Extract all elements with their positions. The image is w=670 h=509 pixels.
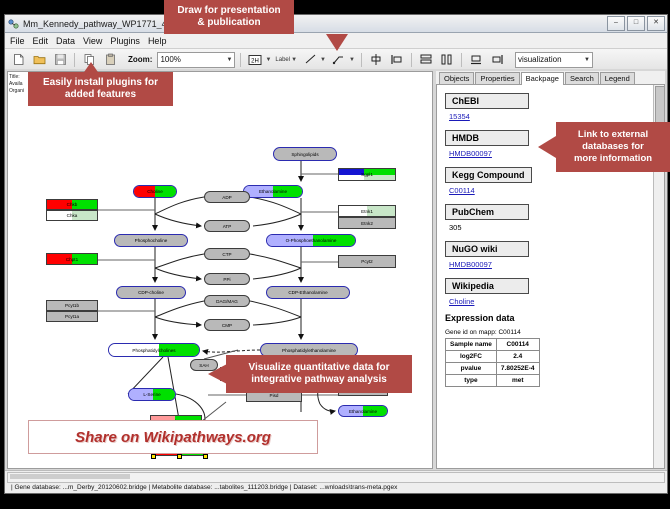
- database-block: NuGO wikiHMDB00097: [445, 239, 664, 269]
- callout-db-arrow: [538, 136, 556, 158]
- callout-share-wikipathways: Share on Wikipathways.org: [28, 420, 318, 454]
- svg-text:2H: 2H: [252, 58, 260, 64]
- align-left-icon[interactable]: [388, 51, 406, 69]
- node-label: CTP: [222, 252, 231, 257]
- pathway-node-ethanolamine-top[interactable]: Ethanolamine: [243, 185, 303, 198]
- interaction-icon[interactable]: [330, 51, 348, 69]
- database-name: ChEBI: [445, 93, 529, 109]
- node-label: CDP-choline: [138, 290, 164, 295]
- database-name: Wikipedia: [445, 278, 529, 294]
- gene-id-line: Gene id on mapp: C00114: [445, 329, 664, 336]
- new-file-icon[interactable]: [9, 51, 27, 69]
- pathway-node-phosphocholine[interactable]: Phosphocholine: [114, 234, 188, 247]
- node-label: Chka: [67, 213, 78, 218]
- hscrollbar-thumb[interactable]: [10, 474, 130, 479]
- save-icon[interactable]: [51, 51, 69, 69]
- database-block: PubChem305: [445, 202, 664, 232]
- toolbar-separator-3: [361, 53, 362, 67]
- node-label: Choline: [147, 189, 163, 194]
- node-label: Chpt1: [66, 257, 78, 262]
- expression-row-value: met: [496, 375, 539, 387]
- node-label: ADP: [222, 195, 231, 200]
- database-link[interactable]: Choline: [449, 297, 664, 306]
- expression-row-label: Sample name: [446, 339, 497, 351]
- expression-row: log2FC2.4: [446, 351, 540, 363]
- align-center-icon[interactable]: [367, 51, 385, 69]
- zoom-label: Zoom:: [128, 55, 152, 64]
- close-button[interactable]: ✕: [647, 16, 665, 31]
- expression-row-label: type: [446, 375, 497, 387]
- database-block: WikipediaCholine: [445, 276, 664, 306]
- tab-search[interactable]: Search: [565, 72, 599, 84]
- node-label: CMP: [222, 323, 232, 328]
- callout-install-plugins: Easily install plugins foradded features: [28, 72, 173, 106]
- expression-row: typemet: [446, 375, 540, 387]
- chevron-down-icon[interactable]: ▼: [349, 57, 355, 63]
- status-text: | Gene database: ...m_Derby_20120602.bri…: [11, 484, 397, 491]
- label-tool-text: Label: [275, 57, 290, 63]
- node-label: PPi: [223, 277, 230, 282]
- side-panel-tabs: ObjectsPropertiesBackpageSearchLegend: [436, 71, 665, 85]
- chevron-down-icon: ▼: [584, 57, 590, 63]
- menu-item-help[interactable]: Help: [148, 36, 167, 46]
- node-label: DAG/MAG: [216, 299, 238, 304]
- database-value: 305: [449, 223, 664, 232]
- pathway-node-adp[interactable]: ADP: [204, 191, 250, 203]
- menu-item-file[interactable]: File: [10, 36, 25, 46]
- maximize-button[interactable]: □: [627, 16, 645, 31]
- label-tool[interactable]: Label▼: [275, 57, 298, 63]
- toolbar: Zoom: 100% ▼ 2H ▼ Label▼ ▼ ▼: [5, 49, 667, 71]
- callout-draw-publication: Draw for presentation& publication: [164, 0, 294, 34]
- chevron-down-icon: ▼: [226, 57, 232, 63]
- pathway-node-sphingolipids[interactable]: Sphingolipids: [273, 147, 337, 161]
- expression-row-label: pvalue: [446, 363, 497, 375]
- database-name: PubChem: [445, 204, 529, 220]
- stack-icon[interactable]: [417, 51, 435, 69]
- pathway-node-chkb[interactable]: Chkb: [46, 199, 98, 210]
- node-label: Pcyt1a: [65, 314, 79, 319]
- node-label: Phosphatidylcholines: [132, 348, 175, 353]
- interaction-tool[interactable]: ▼: [330, 51, 356, 69]
- tab-backpage[interactable]: Backpage: [521, 72, 564, 85]
- chevron-down-icon[interactable]: ▼: [265, 57, 271, 63]
- zoom-combo[interactable]: 100% ▼: [157, 52, 235, 68]
- tab-legend[interactable]: Legend: [600, 72, 635, 84]
- node-label: Sgpl1: [361, 172, 373, 177]
- selection-handle[interactable]: [203, 454, 208, 459]
- callout-visualize-arrow: [208, 364, 227, 384]
- expression-row-value: C00114: [496, 339, 539, 351]
- pathway-node-choline-top[interactable]: Choline: [133, 185, 177, 198]
- line-tool[interactable]: ▼: [301, 51, 327, 69]
- node-label: Etnk2: [361, 221, 373, 226]
- node-label: Phosphatidylethanolamine: [282, 348, 336, 353]
- align-bottom-icon[interactable]: [467, 51, 485, 69]
- node-label: ATP: [223, 224, 232, 229]
- expression-data-table: Sample nameC00114log2FC2.4pvalue7.80252E…: [445, 338, 540, 387]
- callout-link-databases: Link to externaldatabases formore inform…: [556, 122, 670, 172]
- pathway-node-etnk1[interactable]: Etnk1: [338, 205, 396, 217]
- expression-row-label: log2FC: [446, 351, 497, 363]
- line-icon[interactable]: [301, 51, 319, 69]
- pathway-node-cdp-ethanolamine[interactable]: CDP-Ethanolamine: [266, 286, 350, 299]
- pathway-node-ctp[interactable]: CTP: [204, 248, 250, 260]
- share-text: Share on Wikipathways.org: [75, 429, 271, 446]
- chevron-down-icon[interactable]: ▼: [320, 57, 326, 63]
- database-block: ChEBI15354: [445, 91, 664, 121]
- database-link[interactable]: HMDB00097: [449, 260, 664, 269]
- node-label: Pisd: [270, 393, 279, 398]
- node-label: Chkb: [67, 202, 78, 207]
- datanode-tool[interactable]: 2H ▼: [246, 51, 272, 69]
- pathway-node-pcyt2[interactable]: Pcyt2: [338, 255, 396, 268]
- pathway-node-sgpl1[interactable]: Sgpl1: [338, 168, 396, 181]
- node-label: Etnk1: [361, 209, 373, 214]
- datanode-icon[interactable]: 2H: [246, 51, 264, 69]
- database-name: Kegg Compound: [445, 167, 532, 183]
- open-folder-icon[interactable]: [30, 51, 48, 69]
- callout-draw-arrow: [326, 34, 348, 51]
- chevron-down-icon[interactable]: ▼: [291, 57, 297, 63]
- selection-handle[interactable]: [177, 454, 182, 459]
- pathway-node-atp[interactable]: ATP: [204, 220, 250, 232]
- status-bar: | Gene database: ...m_Derby_20120602.bri…: [5, 470, 667, 493]
- visualization-value: visualization: [518, 55, 562, 64]
- selection-handle[interactable]: [151, 454, 156, 459]
- node-label: Ethanolamine: [259, 189, 287, 194]
- pathway-node-dagmag[interactable]: DAG/MAG: [204, 295, 250, 307]
- horizontal-scrollbar[interactable]: [7, 472, 665, 483]
- node-label: O-Phosphoethanolamine: [286, 238, 337, 243]
- tab-properties[interactable]: Properties: [475, 72, 519, 84]
- database-name: NuGO wiki: [445, 241, 529, 257]
- pathway-canvas[interactable]: Title: Availa Organi: [7, 71, 433, 469]
- pathway-node-ethanolamine-right[interactable]: Ethanolamine: [338, 405, 388, 417]
- node-label: L-Serine: [143, 392, 160, 397]
- node-label: Pcyt2: [361, 259, 373, 264]
- title-bar: Mm_Kennedy_pathway_WP1771_45176.gpml – □…: [5, 15, 667, 33]
- toolbar-separator: [74, 53, 75, 67]
- menu-item-plugins[interactable]: Plugins: [110, 36, 140, 46]
- pathway-node-chka[interactable]: Chka: [46, 210, 98, 221]
- menu-item-data[interactable]: Data: [56, 36, 75, 46]
- align-right-icon[interactable]: [488, 51, 506, 69]
- callout-visualize-data: Visualize quantitative data forintegrati…: [226, 355, 412, 393]
- pathway-node-ppi[interactable]: PPi: [204, 273, 250, 285]
- visualization-combo[interactable]: visualization ▼: [515, 52, 593, 68]
- expression-row-value: 2.4: [496, 351, 539, 363]
- expression-row-value: 7.80252E-4: [496, 363, 539, 375]
- pathway-node-etnk2[interactable]: Etnk2: [338, 217, 396, 229]
- minimize-button[interactable]: –: [607, 16, 625, 31]
- screenshot-root: Mm_Kennedy_pathway_WP1771_45176.gpml – □…: [0, 0, 670, 509]
- menu-item-edit[interactable]: Edit: [33, 36, 49, 46]
- pathway-node-cmp[interactable]: CMP: [204, 319, 250, 331]
- node-label: Phosphocholine: [135, 238, 168, 243]
- node-label: CDP-Ethanolamine: [288, 290, 327, 295]
- pathway-node-cdp-choline[interactable]: CDP-choline: [116, 286, 186, 299]
- menu-item-view[interactable]: View: [83, 36, 102, 46]
- pathway-node-pcyt1a[interactable]: Pcyt1a: [46, 311, 98, 322]
- node-label: Sphingolipids: [291, 152, 318, 157]
- expression-row: pvalue7.80252E-4: [446, 363, 540, 375]
- expression-data-heading: Expression data: [445, 313, 664, 323]
- toolbar-separator-4: [411, 53, 412, 67]
- expression-row: Sample nameC00114: [446, 339, 540, 351]
- pathway-node-l-serine-left[interactable]: L-Serine: [128, 388, 176, 401]
- node-label: Ethanolamine: [349, 409, 377, 414]
- pathway-node-pcyt1b[interactable]: Pcyt1b: [46, 300, 98, 311]
- zoom-value: 100%: [160, 55, 180, 64]
- database-link[interactable]: 15354: [449, 112, 664, 121]
- window-controls: – □ ✕: [607, 16, 665, 31]
- distribute-icon[interactable]: [438, 51, 456, 69]
- pathvisio-icon: [8, 18, 19, 29]
- node-label: Pcyt1b: [65, 303, 79, 308]
- pathway-node-phosphatidylcholines[interactable]: Phosphatidylcholines: [108, 343, 200, 357]
- tab-objects[interactable]: Objects: [439, 72, 474, 84]
- paste-icon[interactable]: [101, 51, 119, 69]
- database-name: HMDB: [445, 130, 529, 146]
- database-link[interactable]: C00114: [449, 186, 664, 195]
- toolbar-separator-5: [461, 53, 462, 67]
- pathway-node-o-phosphoethanolamine[interactable]: O-Phosphoethanolamine: [266, 234, 356, 247]
- toolbar-separator-2: [240, 53, 241, 67]
- pathway-node-chpt1[interactable]: Chpt1: [46, 253, 98, 265]
